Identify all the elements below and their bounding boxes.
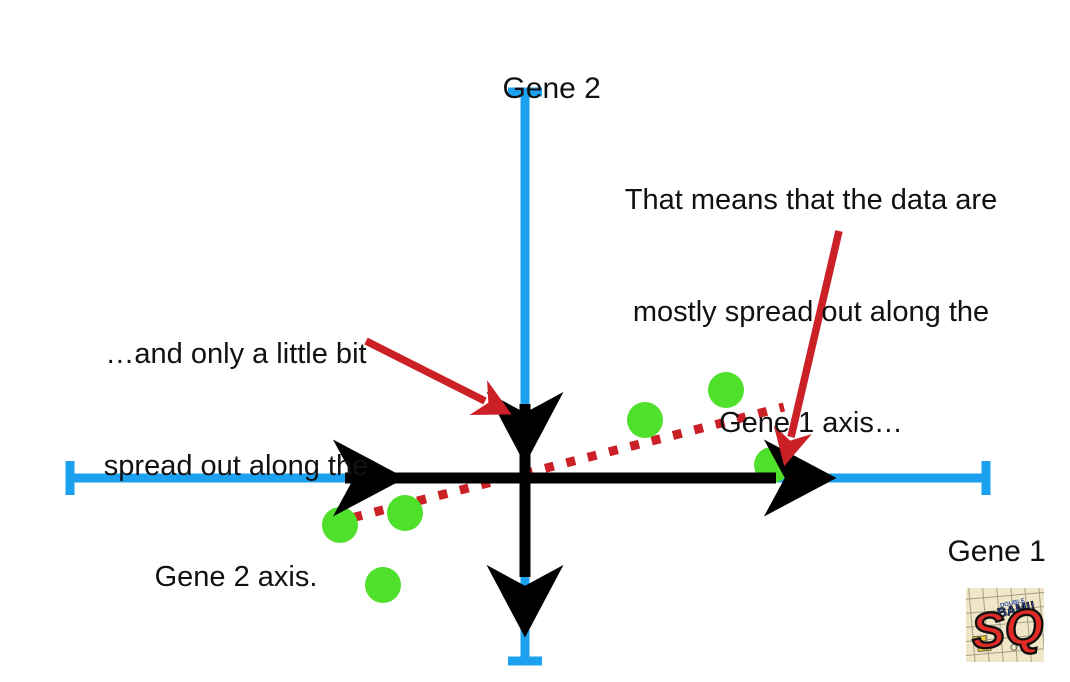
annotation-line: That means that the data are (592, 182, 1030, 219)
gene1-spread-note: That means that the data are mostly spre… (592, 108, 1030, 516)
y-axis-label-text: Gene 2 (502, 70, 600, 108)
annotation-line: …and only a little bit (62, 336, 410, 373)
annotation-line: mostly spread out along the (592, 294, 1030, 331)
x-axis-label-text: Gene 1 (947, 535, 1045, 568)
statquest-logo-primary-text: SQ! (969, 596, 1044, 660)
statquest-logo: DOUBLE BAM!! SQ! (966, 588, 1044, 662)
annotation-line: Gene 1 axis… (592, 405, 1030, 442)
gene2-spread-note: …and only a little bit spread out along … (62, 262, 410, 670)
statquest-logo-art: DOUBLE BAM!! SQ! (966, 588, 1044, 662)
annotation-line: Gene 2 axis. (62, 559, 410, 596)
annotation-line: spread out along the (62, 448, 410, 485)
slide-canvas: Gene 2 Gene 1 That means that the data a… (0, 0, 1070, 682)
